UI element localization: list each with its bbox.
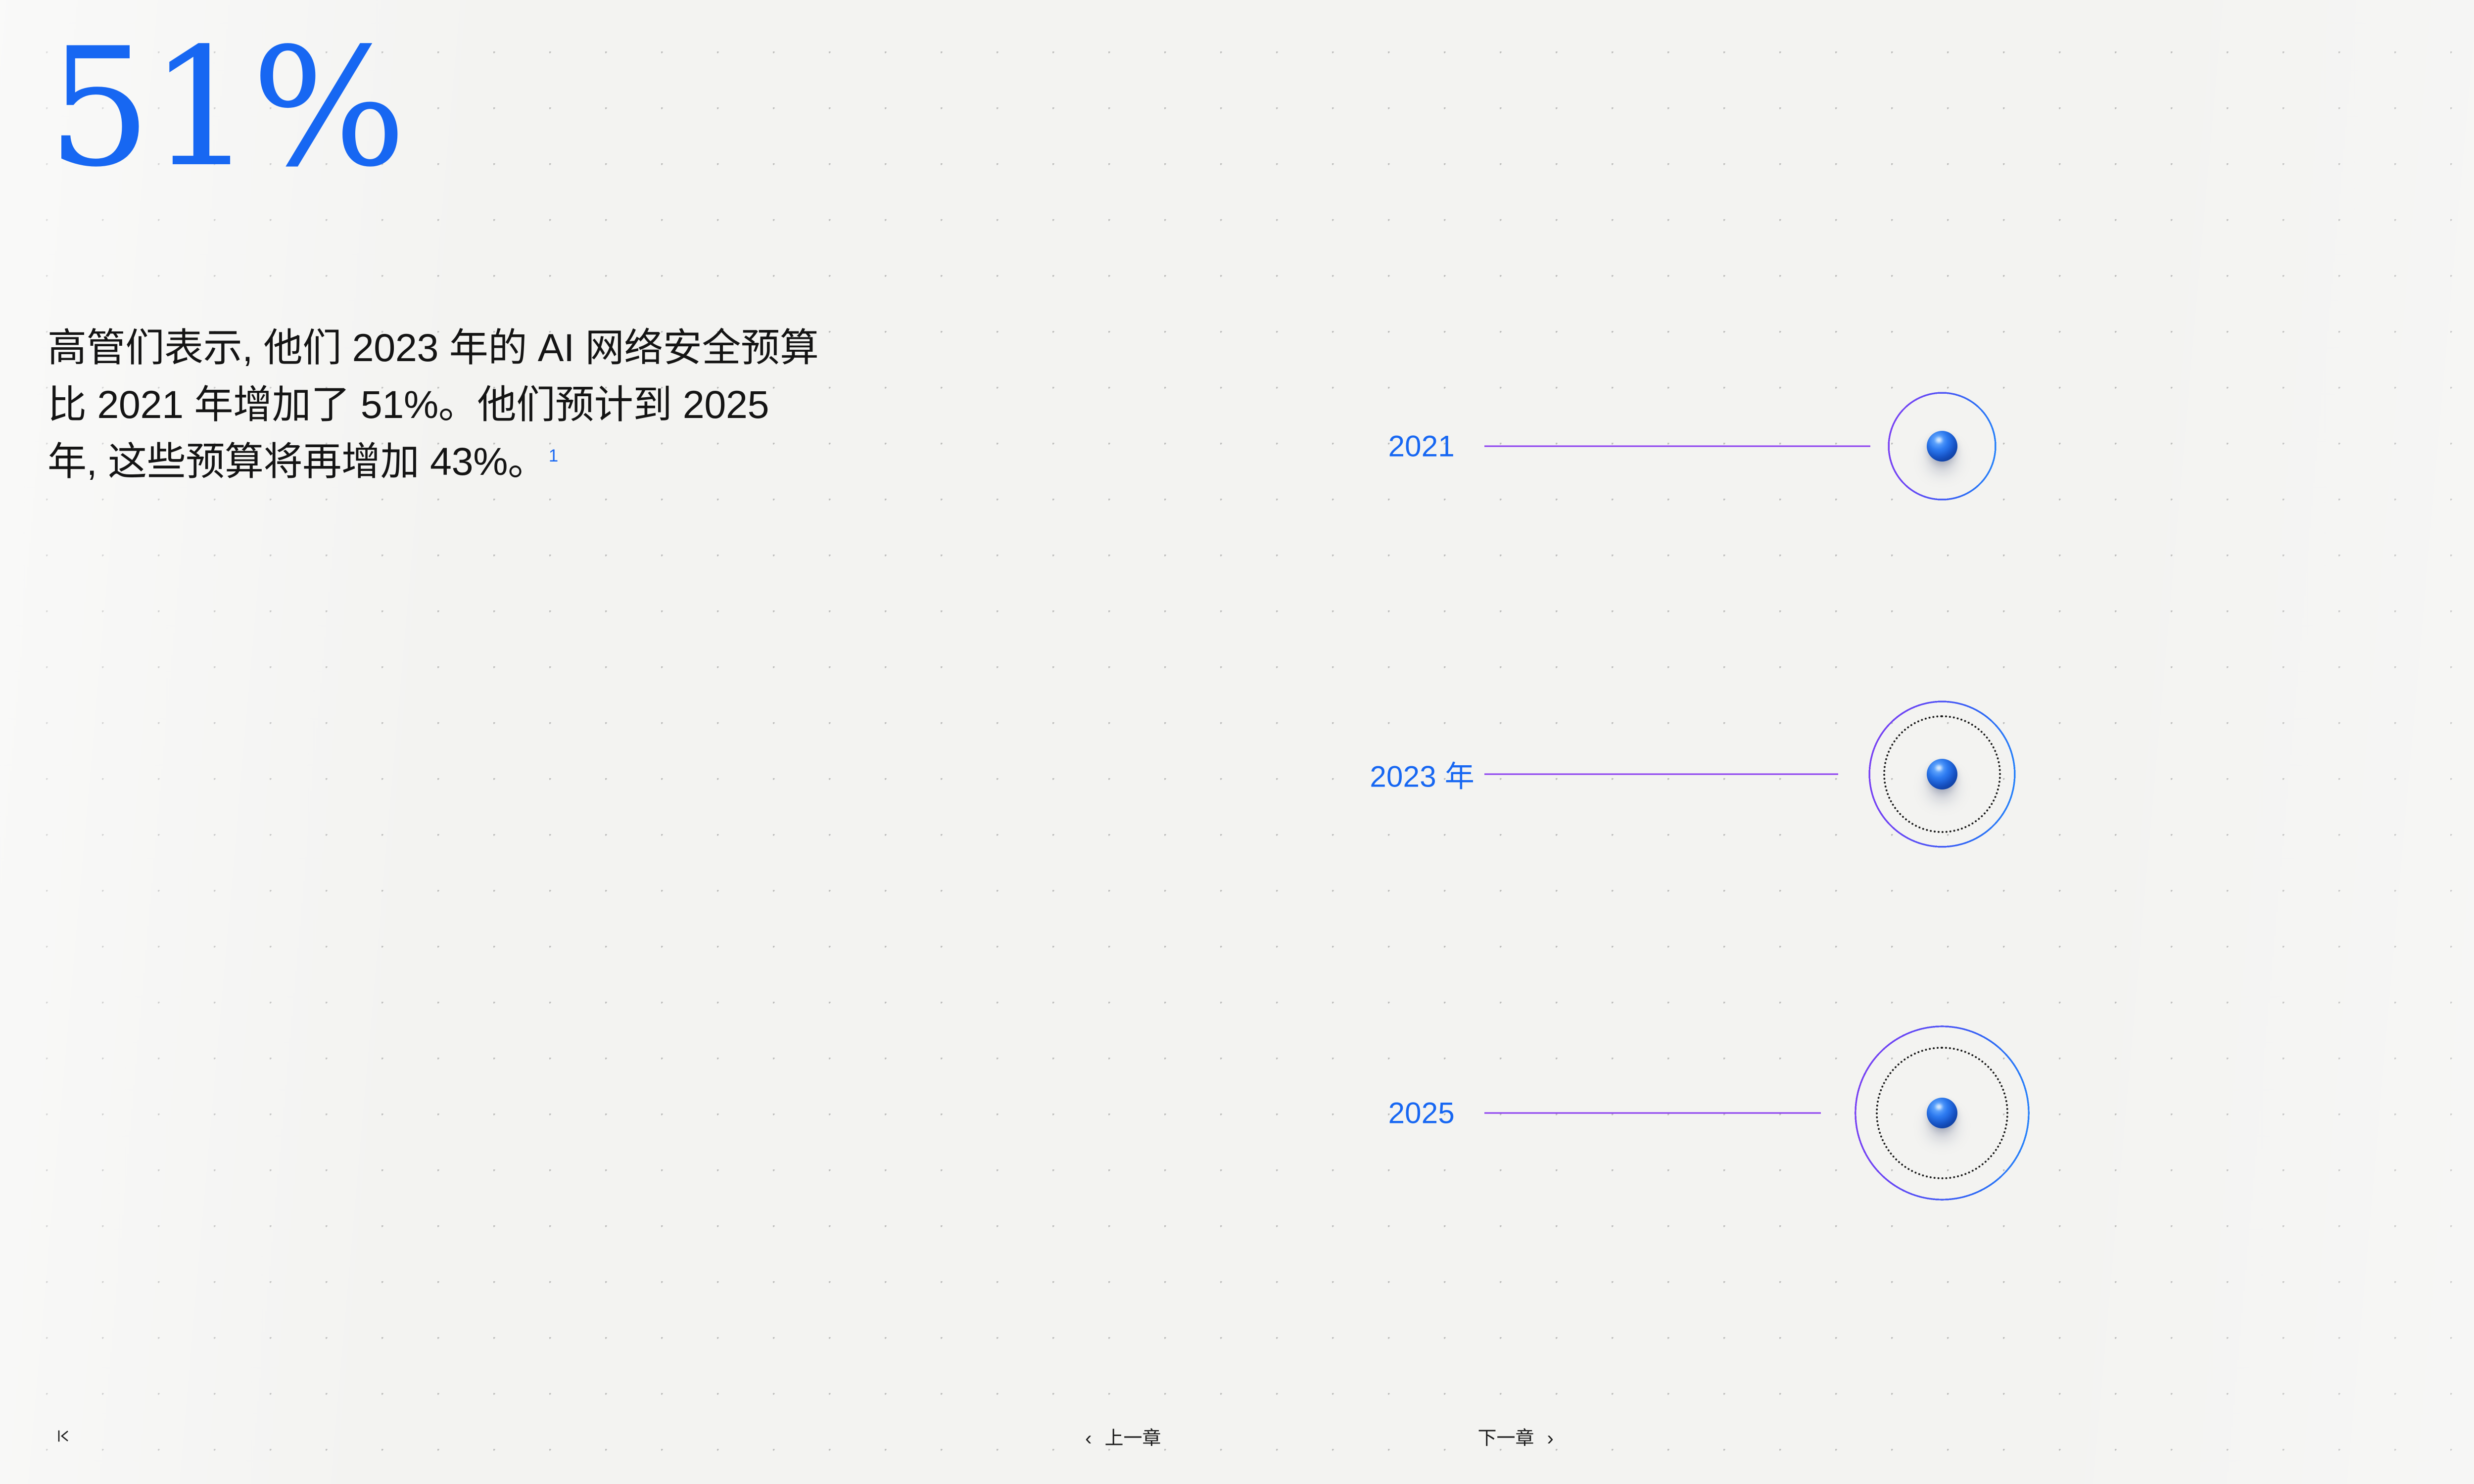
headline-stat: 51% xyxy=(48,30,889,186)
left-content-column: 51% 高管们表示, 他们 2023 年的 AI 网络安全预算比 2021 年增… xyxy=(48,30,889,490)
leader-line-2021 xyxy=(1484,446,1870,447)
next-chapter-label: 下一章 xyxy=(1478,1429,1534,1448)
chevron-left-icon: ‹ xyxy=(1085,1429,1092,1448)
bubble-label-2025: 2025 xyxy=(1326,1096,1455,1130)
leader-line-2025 xyxy=(1484,1113,1821,1114)
previous-chapter-button[interactable]: ‹ 上一章 xyxy=(1085,1429,1161,1448)
next-chapter-button[interactable]: 下一章 › xyxy=(1478,1429,1554,1448)
previous-chapter-label: 上一章 xyxy=(1104,1429,1161,1448)
bubble-chart: 2021 2023 年 2025 xyxy=(1326,307,2474,1336)
bubble-sphere-2021 xyxy=(1927,431,1957,462)
footer-bar: ‹ 上一章 下一章 › 8 xyxy=(0,1400,2474,1484)
bubble-label-2023: 2023 年 xyxy=(1326,753,1475,796)
body-paragraph: 高管们表示, 他们 2023 年的 AI 网络安全预算比 2021 年增加了 5… xyxy=(48,319,819,490)
chapter-navigation: ‹ 上一章 下一章 › xyxy=(1085,1429,1554,1448)
footnote-marker[interactable]: 1 xyxy=(549,447,558,465)
bubble-label-2021: 2021 xyxy=(1326,429,1455,464)
leader-line-2023 xyxy=(1484,774,1838,775)
body-paragraph-text: 高管们表示, 他们 2023 年的 AI 网络安全预算比 2021 年增加了 5… xyxy=(48,325,819,484)
first-page-icon[interactable] xyxy=(54,1426,74,1449)
slide-canvas: 51% 高管们表示, 他们 2023 年的 AI 网络安全预算比 2021 年增… xyxy=(0,0,2474,1484)
chevron-right-icon: › xyxy=(1547,1429,1554,1448)
bubble-sphere-2023 xyxy=(1927,759,1957,789)
bubble-sphere-2025 xyxy=(1927,1098,1957,1128)
